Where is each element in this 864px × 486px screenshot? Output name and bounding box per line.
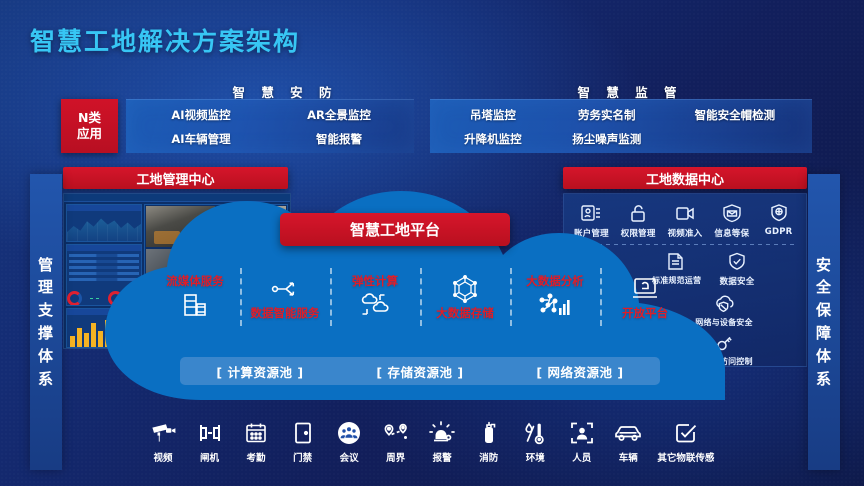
perimeter-icon bbox=[373, 418, 419, 448]
media-server-icon bbox=[182, 289, 208, 321]
app-item[interactable]: AR全景监控 bbox=[270, 103, 408, 127]
turnstile-icon bbox=[187, 418, 233, 448]
calendar-attendance-icon bbox=[233, 418, 279, 448]
sidebar-char: 障 bbox=[816, 322, 832, 345]
service-label: 大数据存储 bbox=[436, 305, 494, 321]
sidebar-management-support-system: 管 理 支 撑 体 系 bbox=[30, 174, 62, 470]
device-label: 报警 bbox=[419, 450, 465, 464]
n-class-line2: 应用 bbox=[77, 126, 102, 142]
resource-pool-bar: [ 计算资源池 ] [ 存储资源池 ] [ 网络资源池 ] bbox=[180, 357, 660, 385]
analytics-chart-icon bbox=[539, 289, 571, 321]
app-item[interactable]: 吊塔监控 bbox=[436, 103, 550, 127]
dc-item-label: GDPR bbox=[756, 227, 802, 237]
service-item-bigdata-storage[interactable]: 大数据存储 bbox=[420, 262, 510, 332]
cctv-camera-icon bbox=[140, 418, 186, 448]
sidebar-char: 全 bbox=[816, 276, 832, 299]
cloud-service-list: 流媒体服务 数据智能服务 弹性计算 bbox=[150, 262, 690, 332]
device-item-fire[interactable]: 消防 bbox=[466, 418, 512, 464]
application-panel-security: AI视频监控 AR全景监控 AI车辆管理 智能报警 bbox=[126, 99, 414, 153]
sidebar-char: 体 bbox=[816, 345, 832, 368]
app-item[interactable]: 扬尘噪声监测 bbox=[550, 127, 664, 151]
meeting-icon bbox=[326, 418, 372, 448]
device-label: 考勤 bbox=[233, 450, 279, 464]
n-class-application-box: N类 应用 bbox=[61, 99, 118, 153]
app-item[interactable]: AI视频监控 bbox=[132, 103, 270, 127]
sidebar-char: 支 bbox=[38, 299, 54, 322]
sidebar-char: 保 bbox=[816, 299, 832, 322]
service-item-streaming[interactable]: 流媒体服务 bbox=[150, 262, 240, 332]
page-title: 智慧工地解决方案架构 bbox=[30, 22, 300, 58]
environment-sensor-icon bbox=[512, 418, 558, 448]
sidebar-char: 撑 bbox=[38, 322, 54, 345]
gdpr-shield-icon bbox=[756, 201, 802, 225]
app-item[interactable]: 升降机监控 bbox=[436, 127, 550, 151]
architecture-diagram: 智慧工地解决方案架构 智 慧 安 防 智 慧 监 管 N类 应用 AI视频监控 … bbox=[0, 0, 864, 486]
service-item-data-intelligence[interactable]: 数据智能服务 bbox=[240, 262, 330, 332]
device-item-turnstile[interactable]: 闸机 bbox=[187, 418, 233, 464]
vehicle-icon bbox=[605, 418, 651, 448]
app-item[interactable]: 智能安全帽检测 bbox=[664, 103, 806, 127]
device-layer: 视频 闸机 考勤 bbox=[140, 418, 720, 476]
elastic-cloud-icon bbox=[360, 289, 390, 321]
sidebar-char: 管 bbox=[38, 254, 54, 277]
polyhedron-storage-icon bbox=[450, 273, 480, 305]
alarm-light-icon bbox=[419, 418, 465, 448]
device-label: 周界 bbox=[373, 450, 419, 464]
device-item-meeting[interactable]: 会议 bbox=[326, 418, 372, 464]
sidebar-char: 体 bbox=[38, 345, 54, 368]
fire-extinguisher-icon bbox=[466, 418, 512, 448]
service-label: 数据智能服务 bbox=[251, 305, 320, 321]
resource-pool-item[interactable]: [ 计算资源池 ] bbox=[216, 362, 303, 381]
app-item[interactable]: AI车辆管理 bbox=[132, 127, 270, 151]
device-label: 环境 bbox=[512, 450, 558, 464]
service-label: 流媒体服务 bbox=[166, 273, 224, 289]
platform-banner: 智慧工地平台 bbox=[280, 213, 510, 246]
open-platform-icon bbox=[631, 273, 659, 305]
device-label: 门禁 bbox=[280, 450, 326, 464]
door-access-icon bbox=[280, 418, 326, 448]
service-label: 大数据分析 bbox=[526, 273, 584, 289]
app-item[interactable]: 智能报警 bbox=[270, 127, 408, 151]
sidebar-security-guarantee-system: 安 全 保 障 体 系 bbox=[808, 174, 840, 470]
device-label: 车辆 bbox=[605, 450, 651, 464]
sidebar-char: 安 bbox=[816, 254, 832, 277]
sidebar-char: 系 bbox=[38, 368, 54, 391]
n-class-line1: N类 bbox=[78, 110, 101, 126]
sidebar-char: 系 bbox=[816, 368, 832, 391]
device-item-attendance[interactable]: 考勤 bbox=[233, 418, 279, 464]
device-item-personnel[interactable]: 人员 bbox=[559, 418, 605, 464]
device-item-door-access[interactable]: 门禁 bbox=[280, 418, 326, 464]
data-branch-icon bbox=[271, 273, 299, 305]
sidebar-char: 理 bbox=[38, 276, 54, 299]
device-label: 会议 bbox=[326, 450, 372, 464]
device-item-other-iot-sensors[interactable]: 其它物联传感 bbox=[652, 418, 720, 464]
dc-item-gdpr[interactable]: GDPR bbox=[756, 201, 802, 239]
application-panel-supervise: 吊塔监控 劳务实名制 智能安全帽检测 升降机监控 扬尘噪声监测 bbox=[430, 99, 812, 153]
service-item-bigdata-analysis[interactable]: 大数据分析 bbox=[510, 262, 600, 332]
resource-pool-item[interactable]: [ 网络资源池 ] bbox=[536, 362, 623, 381]
device-label: 闸机 bbox=[187, 450, 233, 464]
device-item-video[interactable]: 视频 bbox=[140, 418, 186, 464]
device-label: 视频 bbox=[140, 450, 186, 464]
service-item-open-platform[interactable]: 开放平台 bbox=[600, 262, 690, 332]
service-label: 弹性计算 bbox=[352, 273, 398, 289]
device-item-vehicle[interactable]: 车辆 bbox=[605, 418, 651, 464]
service-label: 开放平台 bbox=[622, 305, 668, 321]
iot-check-icon bbox=[652, 418, 720, 448]
device-item-alarm[interactable]: 报警 bbox=[419, 418, 465, 464]
device-label: 消防 bbox=[466, 450, 512, 464]
device-label: 人员 bbox=[559, 450, 605, 464]
app-item[interactable]: 劳务实名制 bbox=[550, 103, 664, 127]
device-label: 其它物联传感 bbox=[652, 450, 720, 464]
person-scan-icon bbox=[559, 418, 605, 448]
service-item-elastic-computing[interactable]: 弹性计算 bbox=[330, 262, 420, 332]
device-item-environment[interactable]: 环境 bbox=[512, 418, 558, 464]
resource-pool-item[interactable]: [ 存储资源池 ] bbox=[376, 362, 463, 381]
device-item-perimeter[interactable]: 周界 bbox=[373, 418, 419, 464]
